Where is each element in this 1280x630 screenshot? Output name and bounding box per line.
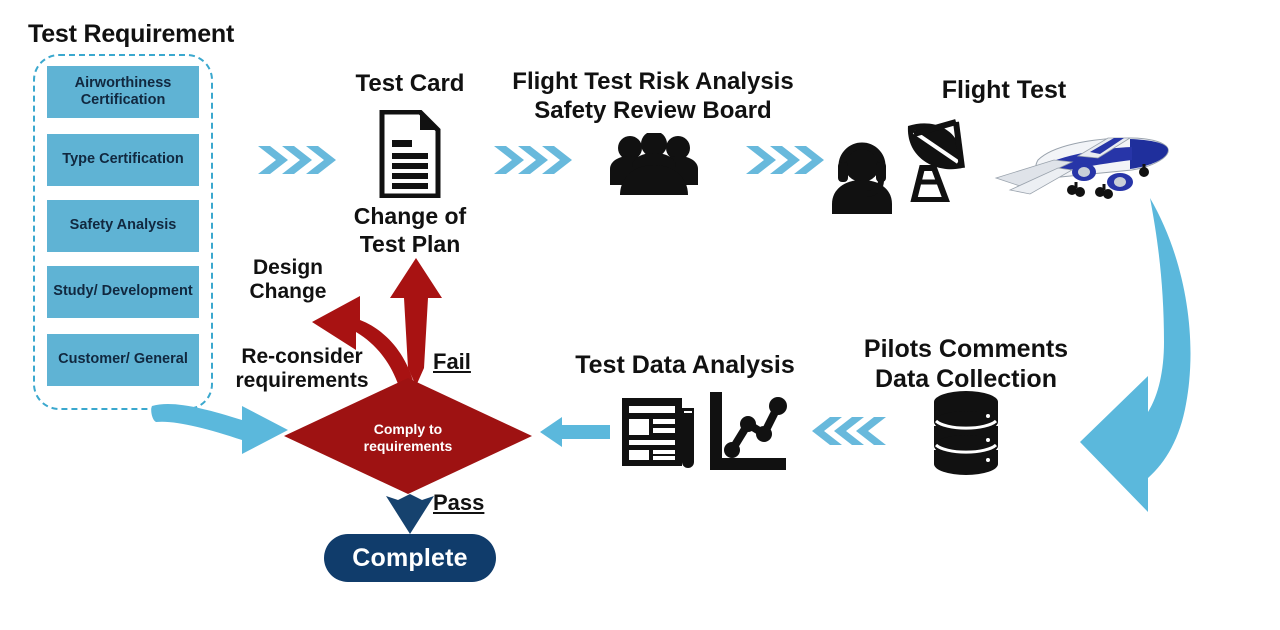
curved-arrow-right-icon-req-to-decision — [150, 398, 300, 464]
requirement-item-study[interactable]: Study/ Development — [47, 266, 199, 318]
arrow-left-icon-analysis-to-decision — [540, 415, 610, 449]
branch-label-fail: Fail — [433, 349, 471, 375]
chevron-left-triple-icon-db-to-analysis — [812, 413, 890, 449]
stage-heading-test-card: Test Card — [330, 70, 490, 99]
report-document-icon — [620, 394, 698, 470]
page-title: Test Requirement — [28, 20, 234, 49]
people-board-icon — [604, 133, 704, 195]
stage-caption-change-of-test-plan: Change of Test Plan — [330, 203, 490, 258]
stage-heading-flight-test: Flight Test — [884, 75, 1124, 105]
satellite-dish-icon — [900, 112, 976, 202]
chevron-right-triple-icon-card-to-board — [492, 140, 578, 180]
chevron-right-triple-icon-board-to-flight — [744, 140, 830, 180]
requirement-item-type[interactable]: Type Certification — [47, 134, 199, 186]
headset-operator-icon — [828, 138, 900, 214]
stage-heading-data-collection: Pilots Comments Data Collection — [846, 334, 1086, 394]
decision-label: Comply to requirements — [284, 378, 532, 494]
stage-heading-data-analysis: Test Data Analysis — [570, 350, 800, 380]
complete-button[interactable]: Complete — [324, 534, 496, 582]
line-chart-icon — [706, 390, 788, 472]
decision-node[interactable]: Comply to requirements — [284, 378, 532, 494]
diagram-canvas: Test Requirement Airworthiness Certifica… — [0, 0, 1280, 630]
stage-heading-risk-analysis: Flight Test Risk Analysis Safety Review … — [508, 68, 798, 126]
requirement-item-airworthiness[interactable]: Airworthiness Certification — [47, 66, 199, 118]
chevron-right-triple-icon-req-to-card — [256, 140, 342, 180]
branch-label-pass: Pass — [433, 490, 484, 516]
document-icon — [378, 110, 442, 198]
database-icon — [930, 388, 1002, 476]
requirement-item-safety[interactable]: Safety Analysis — [47, 200, 199, 252]
label-design-change: Design Change — [230, 256, 346, 303]
requirement-item-customer[interactable]: Customer/ General — [47, 334, 199, 386]
arrow-down-navy-icon-pass — [386, 494, 434, 534]
